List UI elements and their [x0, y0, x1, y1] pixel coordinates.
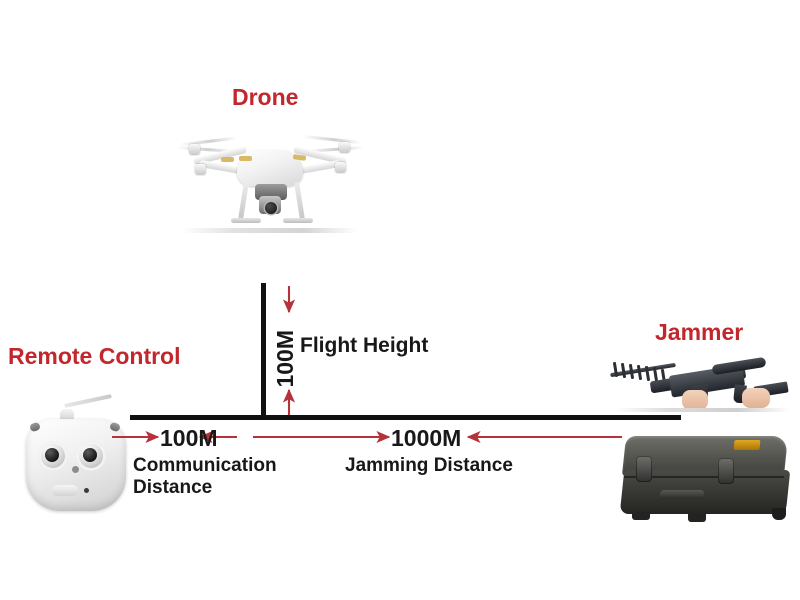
rc-antenna: [64, 394, 112, 408]
drone-motor: [339, 142, 350, 153]
communication-distance-caption-line1: Communication: [133, 455, 277, 477]
case-foot: [632, 512, 650, 520]
jammer-shadow: [614, 408, 790, 412]
operator-hand: [682, 390, 708, 410]
communication-distance-caption: Communication Distance: [133, 455, 277, 499]
case-brand-badge: [733, 440, 760, 450]
drone-propeller-icon: [179, 136, 237, 146]
jamming-distance-value: 1000M: [391, 425, 461, 452]
drone-landing-skid: [231, 218, 261, 223]
jammer-gun-image: [608, 352, 798, 414]
rc-left-stick-knob: [45, 448, 59, 462]
jamming-distance-caption: Jamming Distance: [345, 455, 513, 477]
drone-propeller-icon: [303, 135, 361, 144]
drone-title-label: Drone: [232, 84, 298, 111]
rc-right-stick-knob: [83, 448, 97, 462]
drone-image: [175, 112, 367, 238]
altitude-vertical-line: [261, 283, 266, 417]
case-latch: [636, 456, 652, 482]
case-handle: [660, 490, 705, 499]
drone-landing-leg: [238, 182, 249, 220]
drone-motor: [195, 164, 206, 175]
drone-accent-stripe: [239, 156, 252, 161]
remote-control-image: [14, 397, 139, 523]
yagi-antenna-boom: [610, 363, 676, 377]
communication-distance-caption-line2: Distance: [133, 477, 277, 499]
communication-distance-value: 100M: [160, 425, 218, 452]
case-foot: [688, 514, 706, 522]
jammer-case-image: [614, 428, 800, 530]
drone-motor: [189, 144, 200, 155]
drone-motor: [335, 162, 346, 173]
drone-landing-leg: [294, 182, 305, 220]
case-wheel: [772, 508, 786, 520]
drone-camera-lens-icon: [265, 202, 277, 214]
case-latch: [718, 458, 734, 484]
ground-baseline: [130, 415, 681, 420]
jammer-title-label: Jammer: [655, 319, 743, 346]
rc-center-vent: [72, 466, 79, 473]
rc-status-led-icon: [84, 488, 89, 493]
drone-shadow: [181, 228, 357, 233]
rc-power-switch: [52, 485, 78, 496]
flight-height-caption: Flight Height: [300, 334, 428, 358]
drone-accent-stripe: [221, 157, 234, 162]
drone-landing-skid: [283, 218, 313, 223]
diagram-canvas: Drone Remote Control Jammer: [0, 0, 800, 600]
flight-height-value: 100M: [272, 330, 299, 388]
remote-control-title-label: Remote Control: [8, 343, 181, 370]
operator-hand: [742, 388, 770, 408]
